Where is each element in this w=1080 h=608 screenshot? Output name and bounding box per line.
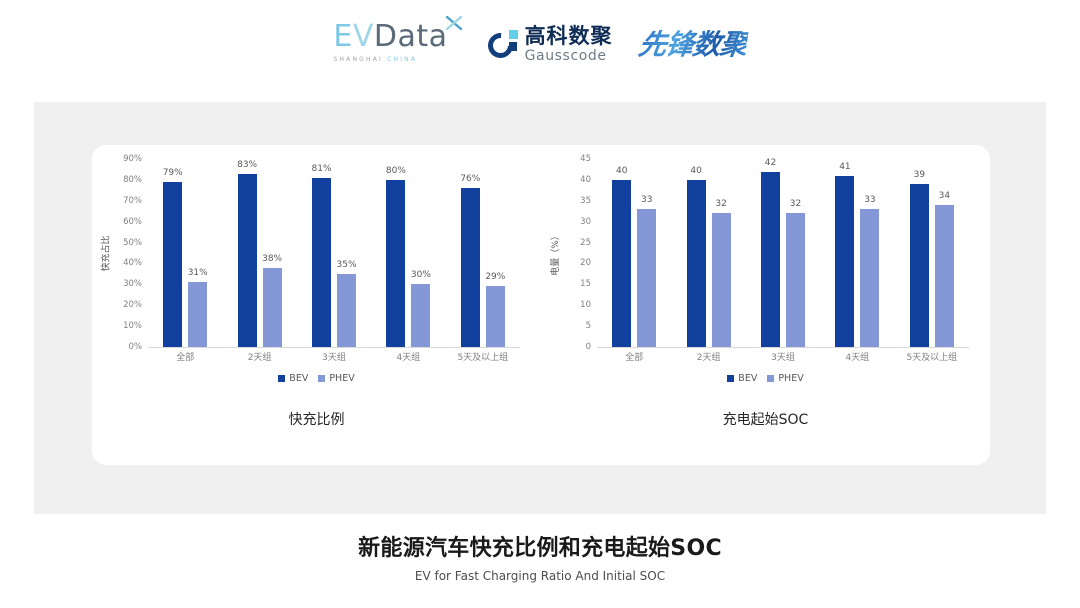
evdata-letter-v: V <box>353 22 374 52</box>
y-tick-label: 80% <box>123 175 142 185</box>
xianfeng-logo: 先锋数聚 <box>639 23 747 63</box>
bar-value-label: 76% <box>460 174 480 184</box>
y-tick-label: 0% <box>129 342 143 352</box>
bar-value-label: 40 <box>690 166 701 176</box>
y-tick-label: 45 <box>580 154 591 164</box>
bar-value-label: 79% <box>163 168 183 178</box>
page-subtitle: EV for Fast Charging Ratio And Initial S… <box>0 569 1080 583</box>
bar-value-label: 32 <box>790 199 801 209</box>
bar-value-label: 35% <box>337 260 357 270</box>
legend-swatch-icon <box>318 375 325 382</box>
bar-value-label: 39 <box>914 170 925 180</box>
x-tick-label: 4天组 <box>371 350 445 363</box>
y-tick-label: 25 <box>580 238 591 248</box>
bar-phev[interactable]: 30% <box>411 284 430 347</box>
legend-item-bev[interactable]: BEV <box>278 373 308 384</box>
bar-bev[interactable]: 40 <box>687 180 706 347</box>
bar-phev[interactable]: 34 <box>935 205 954 347</box>
gausscode-logo: 高科数聚 Gausscode <box>488 26 613 63</box>
bar-phev[interactable]: 32 <box>712 213 731 347</box>
chart-legend: BEVPHEV <box>541 373 990 384</box>
bar-group: 76%29% <box>446 159 520 347</box>
y-tick-label: 60% <box>123 217 142 227</box>
plot-area: 40334032423241333934 <box>597 159 969 347</box>
chart-initial-soc: 电量（%）05101520253035404540334032423241333… <box>541 145 990 465</box>
chart-fast-charging-ratio: 快充占比0%10%20%30%40%50%60%70%80%90%79%31%8… <box>92 145 541 465</box>
bar-group: 4133 <box>820 159 894 347</box>
bar-bev[interactable]: 42 <box>761 172 780 347</box>
legend-swatch-icon <box>727 375 734 382</box>
bar-bev[interactable]: 41 <box>835 176 854 347</box>
chart-card: 快充占比0%10%20%30%40%50%60%70%80%90%79%31%8… <box>92 145 990 465</box>
slide-page: EVData SHANGHAI CHINA 高科数聚 Gausscode <box>0 0 1080 608</box>
evdata-tagline-city: SHANGHAI <box>333 56 383 63</box>
y-tick-label: 30% <box>123 279 142 289</box>
y-tick-label: 30 <box>580 217 591 227</box>
y-tick-label: 40 <box>580 175 591 185</box>
x-mark-icon <box>444 13 464 33</box>
legend-item-phev[interactable]: PHEV <box>318 373 354 384</box>
x-tick-label: 5天及以上组 <box>446 350 520 363</box>
y-tick-label: 90% <box>123 154 142 164</box>
bar-value-label: 32 <box>715 199 726 209</box>
bar-value-label: 34 <box>939 191 950 201</box>
y-tick-label: 5 <box>586 321 591 331</box>
bar-bev[interactable]: 40 <box>612 180 631 347</box>
evdata-tagline: SHANGHAI CHINA <box>333 56 417 63</box>
plot-area: 79%31%83%38%81%35%80%30%76%29% <box>148 159 520 347</box>
y-axis-ticks: 051015202530354045 <box>561 159 595 347</box>
x-axis-line <box>148 347 520 348</box>
x-tick-label: 全部 <box>597 350 671 363</box>
footer: 新能源汽车快充比例和充电起始SOC EV for Fast Charging R… <box>0 530 1080 583</box>
legend-label: BEV <box>738 373 757 384</box>
legend-label: BEV <box>289 373 308 384</box>
bar-value-label: 40 <box>616 166 627 176</box>
bar-value-label: 38% <box>262 254 282 264</box>
legend-label: PHEV <box>329 373 354 384</box>
bar-group: 81%35% <box>297 159 371 347</box>
bar-group: 83%38% <box>222 159 296 347</box>
bar-value-label: 31% <box>188 268 208 278</box>
legend-swatch-icon <box>767 375 774 382</box>
bar-bev[interactable]: 80% <box>386 180 405 347</box>
bar-group: 4033 <box>597 159 671 347</box>
bar-group: 80%30% <box>371 159 445 347</box>
bar-phev[interactable]: 32 <box>786 213 805 347</box>
evdata-letter-e: E <box>333 22 352 52</box>
xianfeng-wordmark: 先锋数聚 <box>636 23 750 63</box>
x-tick-label: 5天及以上组 <box>895 350 969 363</box>
bar-phev[interactable]: 33 <box>637 209 656 347</box>
bar-bev[interactable]: 81% <box>312 178 331 347</box>
bar-phev[interactable]: 35% <box>337 274 356 347</box>
bar-value-label: 83% <box>237 160 257 170</box>
bar-group: 79%31% <box>148 159 222 347</box>
x-tick-label: 3天组 <box>746 350 820 363</box>
charts-container: 快充占比0%10%20%30%40%50%60%70%80%90%79%31%8… <box>92 145 990 465</box>
y-tick-label: 10% <box>123 321 142 331</box>
bar-value-label: 33 <box>864 195 875 205</box>
bar-bev[interactable]: 39 <box>910 184 929 347</box>
bar-phev[interactable]: 38% <box>263 268 282 347</box>
bar-bev[interactable]: 76% <box>461 188 480 347</box>
bar-value-label: 80% <box>386 166 406 176</box>
y-tick-label: 50% <box>123 238 142 248</box>
y-axis-label: 电量（%） <box>547 159 561 347</box>
page-title: 新能源汽车快充比例和充电起始SOC <box>0 530 1080 562</box>
bar-phev[interactable]: 29% <box>486 286 505 347</box>
evdata-wordmark: EVData <box>333 22 447 52</box>
chart-caption: 充电起始SOC <box>541 409 990 429</box>
y-axis-ticks: 0%10%20%30%40%50%60%70%80%90% <box>112 159 146 347</box>
bar-value-label: 42 <box>765 158 776 168</box>
legend-item-phev[interactable]: PHEV <box>767 373 803 384</box>
chart-caption: 快充比例 <box>92 409 541 429</box>
bar-value-label: 29% <box>485 272 505 282</box>
x-axis-line <box>597 347 969 348</box>
logo-bar: EVData SHANGHAI CHINA 高科数聚 Gausscode <box>0 22 1080 63</box>
bar-value-label: 81% <box>312 164 332 174</box>
bar-phev[interactable]: 33 <box>860 209 879 347</box>
y-tick-label: 40% <box>123 258 142 268</box>
y-tick-label: 0 <box>586 342 591 352</box>
y-tick-label: 70% <box>123 196 142 206</box>
gausscode-name-cn: 高科数聚 <box>525 26 613 47</box>
y-tick-label: 35 <box>580 196 591 206</box>
bar-bev[interactable]: 83% <box>238 174 257 347</box>
evdata-tagline-country: CHINA <box>387 56 417 63</box>
legend-label: PHEV <box>778 373 803 384</box>
legend-swatch-icon <box>278 375 285 382</box>
x-axis-ticks: 全部2天组3天组4天组5天及以上组 <box>597 350 969 363</box>
evdata-word-data: Data <box>374 22 448 52</box>
chart-legend: BEVPHEV <box>92 373 541 384</box>
bar-group: 3934 <box>895 159 969 347</box>
y-tick-label: 20 <box>580 258 591 268</box>
bar-value-label: 41 <box>839 162 850 172</box>
bar-value-label: 30% <box>411 270 431 280</box>
bar-group: 4032 <box>671 159 745 347</box>
bar-phev[interactable]: 31% <box>188 282 207 347</box>
x-tick-label: 3天组 <box>297 350 371 363</box>
gausscode-name-en: Gausscode <box>525 49 613 63</box>
bar-value-label: 33 <box>641 195 652 205</box>
x-axis-ticks: 全部2天组3天组4天组5天及以上组 <box>148 350 520 363</box>
x-tick-label: 2天组 <box>222 350 296 363</box>
y-tick-label: 20% <box>123 300 142 310</box>
x-tick-label: 2天组 <box>671 350 745 363</box>
bar-bev[interactable]: 79% <box>163 182 182 347</box>
y-axis-label: 快充占比 <box>98 159 112 347</box>
gausscode-c-mark-icon <box>488 30 518 60</box>
legend-item-bev[interactable]: BEV <box>727 373 757 384</box>
y-tick-label: 10 <box>580 300 591 310</box>
evdata-logo: EVData SHANGHAI CHINA <box>333 22 461 63</box>
x-tick-label: 全部 <box>148 350 222 363</box>
bar-group: 4232 <box>746 159 820 347</box>
y-tick-label: 15 <box>580 279 591 289</box>
x-tick-label: 4天组 <box>820 350 894 363</box>
